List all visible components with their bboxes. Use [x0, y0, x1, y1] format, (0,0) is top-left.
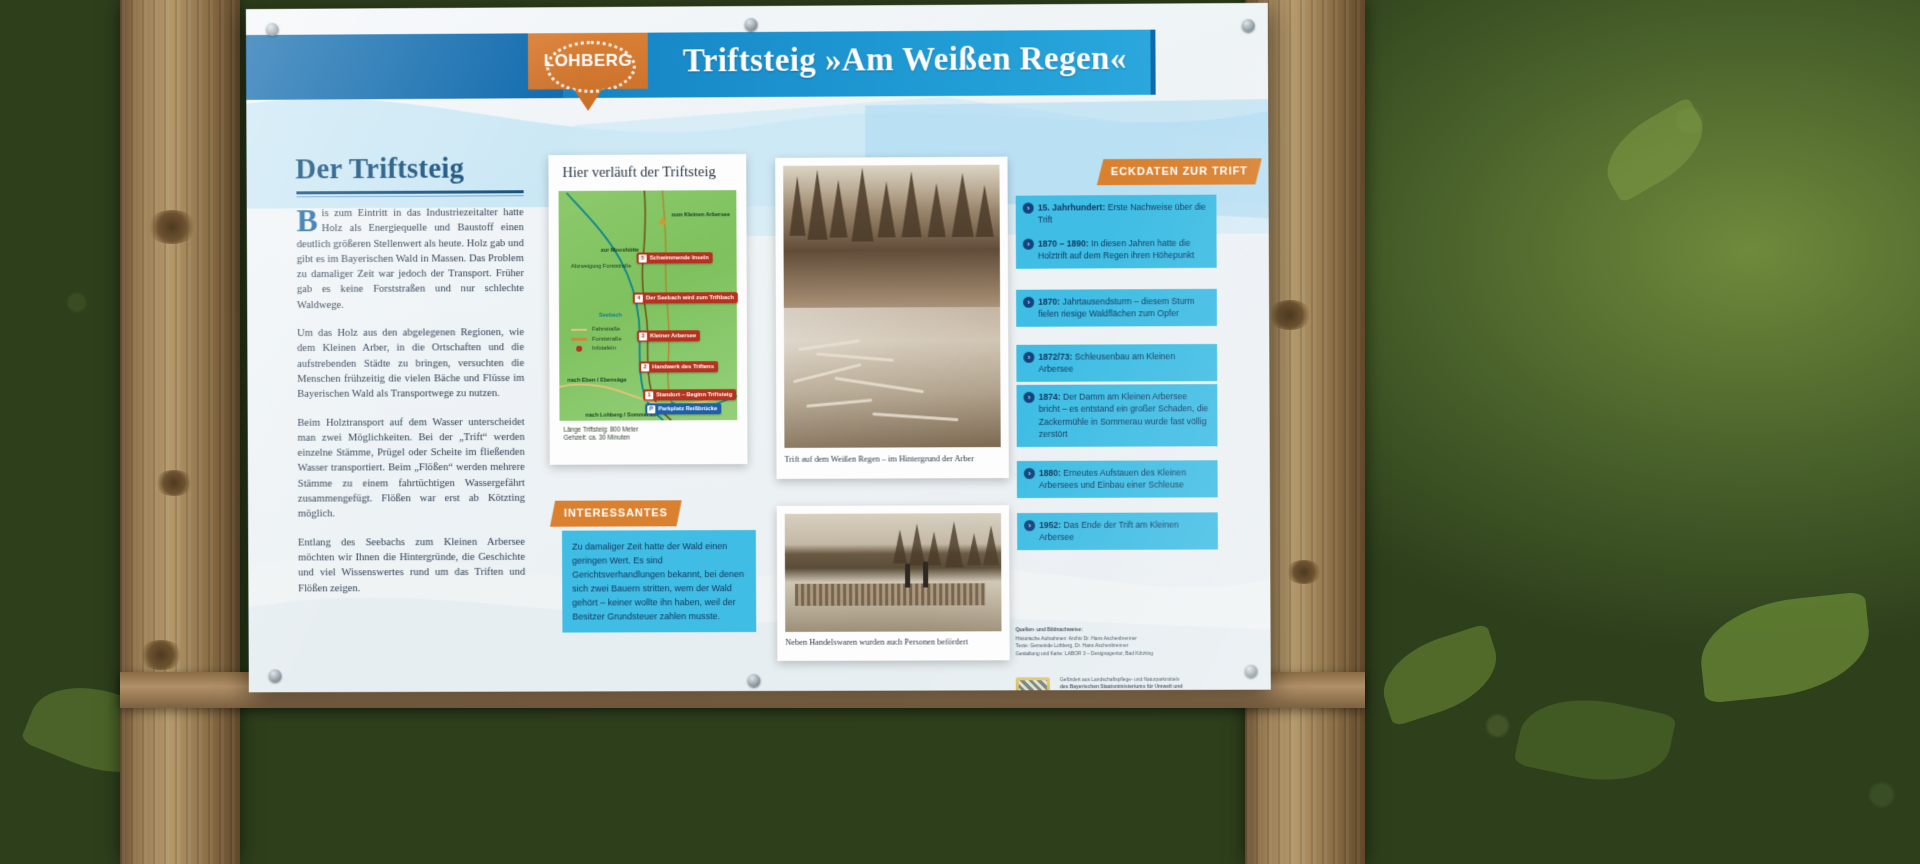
map-routes: [559, 190, 738, 421]
fact-item: › 1870 – 1890: In diesen Jahren hatte di…: [1016, 231, 1217, 269]
screw: [745, 18, 758, 31]
screw: [1245, 665, 1258, 678]
map-station[interactable]: 5 Schwimmende Inseln: [637, 252, 713, 263]
legend-row: Forststraße: [571, 336, 622, 342]
lohberg-logo: LOHBERG: [528, 33, 648, 112]
map-station[interactable]: 2 Handwerk des Triftens: [639, 361, 718, 372]
station-label: Parkplatz Reißbrücke: [658, 406, 717, 412]
chevron-right-icon: ›: [1023, 352, 1034, 363]
fact-item: › 1952: Das Ende der Trift am Kleinen Ar…: [1017, 512, 1218, 550]
bavaria-coat-of-arms-icon: [1016, 677, 1050, 692]
screenshot-root: LOHBERG Triftsteig »Am Weißen Regen« TAF…: [0, 0, 1920, 864]
interessantes-text: Zu damaliger Zeit hatte der Wald einen g…: [572, 539, 746, 624]
legend-label: Infotafeln: [592, 346, 616, 352]
chevron-right-icon: ›: [1024, 520, 1035, 531]
credits-block: Quellen- und Bildnachweise: Historische …: [1016, 627, 1247, 659]
legend-row: Fahrstraße: [571, 327, 622, 333]
raft-shape: [795, 583, 985, 606]
map-station[interactable]: 3 Kleiner Arbersee: [637, 330, 700, 341]
eckdaten-tab-label: ECKDATEN ZUR TRIFT: [1111, 165, 1248, 178]
legend-label: Fahrstraße: [592, 327, 620, 333]
interessantes-tab: INTERESSANTES: [550, 500, 682, 526]
eckdaten-tab: ECKDATEN ZUR TRIFT: [1097, 158, 1262, 185]
chevron-right-icon: ›: [1023, 297, 1034, 308]
map-canvas: zum Kleinen Arbersee zur Mooshütte Abzwe…: [559, 190, 738, 421]
legend-swatch-fahrstrasse: [571, 329, 587, 332]
fact-text: 15. Jahrhundert: Erste Nachweise über di…: [1038, 201, 1209, 227]
map-label: nach Eben / Ebensäge: [567, 378, 626, 384]
drop-cap: B: [296, 206, 321, 234]
screw: [1242, 19, 1255, 32]
photo-caption: Neben Handelswaren wurden auch Personen …: [785, 637, 1001, 647]
article-paragraph: Bis zum Eintritt in das Industriezeitalt…: [296, 205, 524, 313]
chevron-right-icon: ›: [1023, 203, 1034, 214]
person-figure: [905, 564, 910, 588]
logo-label: LOHBERG: [528, 51, 648, 72]
map-heading: Hier verläuft der Triftsteig: [562, 164, 715, 182]
article-paragraph: Entlang des Seebachs zum Kleinen Arberse…: [298, 534, 525, 596]
fact-text: 1870 – 1890: In diesen Jahren hatte die …: [1038, 237, 1209, 263]
fact-item: › 1874: Der Damm am Kleinen Arbersee bri…: [1016, 384, 1217, 447]
title-rule: [296, 190, 523, 194]
information-board: LOHBERG Triftsteig »Am Weißen Regen« TAF…: [246, 3, 1271, 692]
map-panel: Hier verläuft der Triftsteig zum Kleinen…: [548, 154, 747, 465]
screw: [747, 674, 760, 687]
station-number: P: [647, 405, 655, 413]
station-label: Standort – Beginn Triftsteig: [656, 392, 732, 398]
chevron-right-icon: ›: [1023, 239, 1034, 250]
map-label: Abzweigung Forststraße: [571, 264, 632, 270]
person-figure: [923, 561, 928, 587]
fact-text: 1874: Der Damm am Kleinen Arbersee brich…: [1039, 390, 1210, 440]
fact-item: › 1870: Jahrtausendsturm – diesem Sturm …: [1016, 289, 1217, 327]
map-station[interactable]: 1 Standort – Beginn Triftsteig: [643, 389, 736, 400]
fact-item: › 1880: Erneutes Aufstauen des Kleinen A…: [1017, 460, 1218, 498]
station-number: 3: [639, 332, 647, 340]
legend-label: Forststraße: [592, 336, 622, 342]
fact-text: 1880: Erneutes Aufstauen des Kleinen Arb…: [1039, 466, 1210, 491]
chevron-right-icon: ›: [1024, 392, 1035, 403]
fact-text: 1870: Jahrtausendsturm – diesem Sturm fi…: [1038, 295, 1209, 321]
credits-title: Quellen- und Bildnachweise:: [1016, 627, 1247, 635]
station-label: Handwerk des Triftens: [652, 364, 714, 370]
station-label: Schwimmende Inseln: [650, 255, 709, 261]
historic-photo-raft: [785, 513, 1002, 632]
interessantes-tab-label: INTERESSANTES: [564, 507, 668, 519]
screw: [269, 669, 282, 682]
fact-text: 1872/73: Schleusenbau am Kleinen Arberse…: [1038, 350, 1209, 376]
fact-item: › 15. Jahrhundert: Erste Nachweise über …: [1016, 195, 1217, 233]
screw: [266, 23, 279, 36]
map-label: Seebach: [599, 313, 622, 319]
station-label: Der Seebach wird zum Triftbach: [646, 295, 734, 301]
interessantes-box: Zu damaliger Zeit hatte der Wald einen g…: [562, 530, 756, 633]
map-label: zur Mooshütte: [601, 248, 639, 254]
article-paragraph: Um das Holz aus den abgelegenen Regionen…: [297, 325, 525, 402]
map-station-parking[interactable]: P Parkplatz Reißbrücke: [645, 403, 721, 414]
map-legend: Fahrstraße Forststraße Infotafeln: [571, 327, 622, 356]
station-number: 1: [645, 391, 653, 399]
station-number: 5: [639, 254, 647, 262]
article-paragraph: Beim Holztransport auf dem Wasser unters…: [297, 415, 525, 523]
legend-row: Infotafeln: [571, 346, 622, 352]
chevron-right-icon: ›: [1024, 468, 1035, 479]
map-footnote: Länge Triftsteig: 800 Meter Gehzeit: ca.…: [564, 426, 734, 443]
legend-swatch-forststrasse: [571, 338, 587, 341]
photo-caption: Trift auf dem Weißen Regen – im Hintergr…: [784, 454, 1000, 464]
title-rule-thin: [296, 195, 523, 197]
map-label: zum Kleinen Arbersee: [671, 212, 730, 218]
photo-card-trift: Trift auf dem Weißen Regen – im Hintergr…: [775, 157, 1009, 479]
photo-card-raft: Neben Handelswaren wurden auch Personen …: [777, 505, 1010, 661]
wooden-post-left: [120, 0, 240, 864]
map-station[interactable]: 4 Der Seebach wird zum Triftbach: [633, 292, 738, 303]
credits-line: Gestaltung und Karte: LABOR 3 – Designag…: [1016, 650, 1247, 658]
station-number: 2: [641, 363, 649, 371]
legend-dot-infotafeln: [576, 346, 582, 352]
page-title: Triftsteig »Am Weißen Regen«: [683, 41, 1127, 81]
station-label: Kleiner Arbersee: [650, 333, 696, 339]
section-title: Der Triftsteig: [295, 153, 464, 187]
station-number: 4: [635, 294, 643, 302]
article-body: Bis zum Eintritt in das Industriezeitalt…: [296, 205, 525, 609]
fact-text: 1952: Das Ende der Trift am Kleinen Arbe…: [1039, 518, 1210, 543]
fact-item: › 1872/73: Schleusenbau am Kleinen Arber…: [1016, 344, 1217, 382]
